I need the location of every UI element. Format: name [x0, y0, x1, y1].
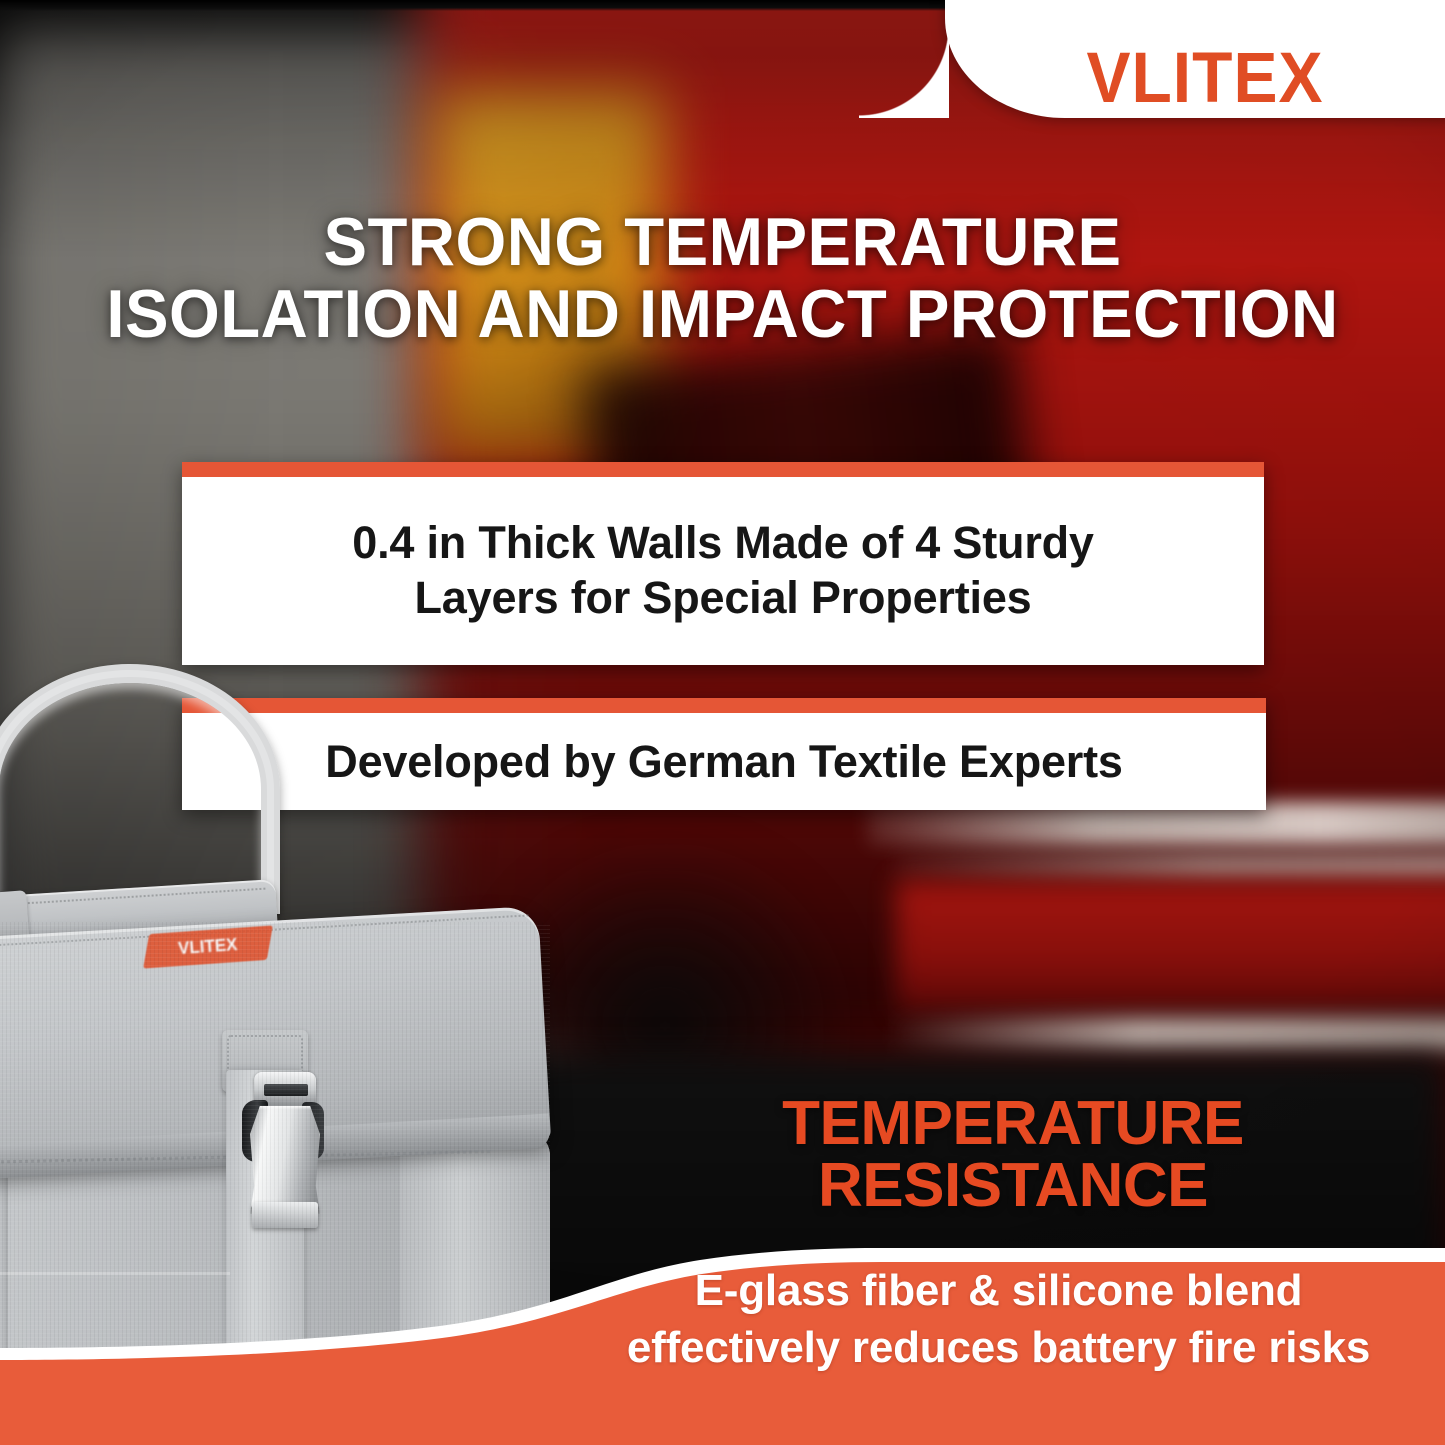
feature-card-text: 0.4 in Thick Walls Made of 4 Sturdy Laye…: [182, 477, 1264, 665]
headline-line-2: ISOLATION AND IMPACT PROTECTION: [54, 278, 1391, 350]
bag-buckle: [248, 1072, 322, 1252]
brand-logo-text: VLITEX: [1086, 41, 1323, 112]
brand-logo-banner: VLITEX: [945, 0, 1445, 118]
temperature-resistance-line-1: TEMPERATURE: [782, 1089, 1244, 1158]
temperature-resistance-callout: TEMPERATURE RESISTANCE: [735, 1093, 1291, 1217]
bottom-banner-text: E-glass fiber & silicone blend effective…: [560, 1262, 1437, 1376]
feature-card-accent-bar: [182, 462, 1264, 477]
temperature-resistance-line-2: RESISTANCE: [735, 1155, 1291, 1217]
product-marketing-image: VLITEX STRONG TEMPERATURE ISOLATION AND …: [0, 0, 1445, 1445]
bottom-banner: E-glass fiber & silicone blend effective…: [0, 1240, 1445, 1445]
headline: STRONG TEMPERATURE ISOLATION AND IMPACT …: [29, 206, 1416, 350]
buckle-body: [250, 1106, 320, 1214]
headline-line-1: STRONG TEMPERATURE: [323, 204, 1121, 280]
bag-carry-handle: [0, 664, 280, 914]
bottom-banner-line-1: E-glass fiber & silicone blend: [695, 1266, 1303, 1315]
feature-card-1-line-2: Layers for Special Properties: [415, 572, 1032, 623]
feature-card-thick-walls: 0.4 in Thick Walls Made of 4 Sturdy Laye…: [182, 462, 1264, 665]
bag-brand-patch-text: VLITEX: [178, 935, 239, 959]
buckle-bottom-bracket: [252, 1202, 318, 1228]
bottom-banner-line-2: effectively reduces battery fire risks: [560, 1319, 1437, 1376]
feature-card-1-line-1: 0.4 in Thick Walls Made of 4 Sturdy: [352, 517, 1094, 568]
